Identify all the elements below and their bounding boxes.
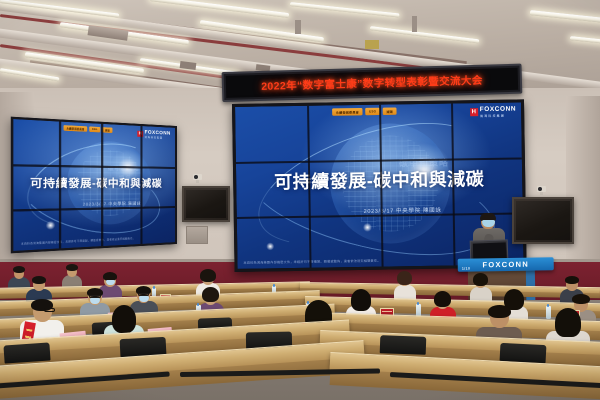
foxconn-logo: H FOXCONN 鴻海科技集團 xyxy=(137,130,170,139)
ceiling-hanger xyxy=(412,16,417,32)
glow-dot xyxy=(46,221,56,230)
seat-back xyxy=(380,335,427,355)
ceiling-light xyxy=(530,10,600,23)
led-banner-screen: 2022年“数字富士康”数字转型表彰暨交流大会 xyxy=(226,68,519,98)
slide-footer: 本資料為鴻海集團內部機密文件，未經許可不得複製、轉載或散佈，違者依法追究相關責任… xyxy=(21,236,135,246)
ceiling-light xyxy=(290,2,400,17)
ceiling-light xyxy=(150,0,290,18)
ceiling-hanger xyxy=(295,20,301,34)
slide-badges: 永續發展委員會 ESG 減碳 xyxy=(332,107,397,115)
attendee-hair xyxy=(200,269,216,282)
slide-meta: 2023/3/17 中央學院 陳國詠 xyxy=(364,206,442,215)
monitor-screen xyxy=(186,190,226,218)
wall-speaker xyxy=(186,226,208,244)
attendee-hair xyxy=(434,291,451,307)
slide-badge: 永續發展委員會 xyxy=(63,125,87,132)
slide-badge: 減碳 xyxy=(383,107,397,115)
face-mask-icon xyxy=(482,220,495,227)
left-video-wall: 永續發展委員會 ESG 減碳 H FOXCONN 鴻海科技集團 碳中和策略 提升… xyxy=(11,117,177,254)
slide-badge: 永續發展委員會 xyxy=(332,108,363,116)
foxconn-logo: H FOXCONN 鴻海科技集團 xyxy=(470,107,517,118)
conference-hall-photo: 2022年“数字富士康”数字转型表彰暨交流大会 永續發展委員會 ESG 減碳 H… xyxy=(0,0,600,400)
slide-badge: 減碳 xyxy=(102,127,112,133)
monitor-screen xyxy=(516,201,570,240)
podium-brand-label: FOXCONN xyxy=(482,260,529,270)
slide-badges: 永續發展委員會 ESG 減碳 xyxy=(63,125,112,133)
foxconn-h-mark: H xyxy=(137,131,143,137)
conference-camera-icon xyxy=(537,186,546,192)
attendee-hair xyxy=(202,287,219,302)
attendee-hair xyxy=(572,294,590,304)
foxconn-h-mark: H xyxy=(470,108,478,116)
left-slide: 永續發展委員會 ESG 減碳 H FOXCONN 鴻海科技集團 碳中和策略 提升… xyxy=(13,119,175,251)
foxconn-wordmark: FOXCONN xyxy=(480,107,516,114)
attendee-hair xyxy=(13,266,25,273)
slide-title: 可持續發展-碳中和與減碳 xyxy=(30,173,162,190)
podium-fascia: FOXCONN xyxy=(458,257,554,272)
led-banner-text: 2022年“数字富士康”数字转型表彰暨交流大会 xyxy=(261,72,483,93)
ceiling-light xyxy=(370,26,480,43)
glasses-icon xyxy=(44,308,55,312)
attendee-hair xyxy=(32,276,46,284)
side-monitor-left xyxy=(182,186,230,222)
slide-footer: 本資料為鴻海集團內部機密文件，未經許可不得複製、轉載或散佈，違者依法追究相關責任… xyxy=(243,258,380,265)
ceiling-light xyxy=(570,36,600,45)
attendee-hair xyxy=(66,264,78,271)
attendee-hair xyxy=(397,271,412,285)
attendee-hair xyxy=(112,305,136,333)
foxconn-subtitle: 鴻海科技集團 xyxy=(144,136,170,139)
laptop-screen xyxy=(472,242,506,259)
slide-ghost-text: 碳中和策略 xyxy=(108,164,140,172)
ceiling-duct xyxy=(87,25,128,40)
glow-dot xyxy=(266,242,274,250)
attendee-hair xyxy=(565,276,579,284)
podium-tag-label: 1/10 xyxy=(462,267,471,271)
slide-badge: ESG xyxy=(366,108,381,116)
slide-title: 可持續發展-碳中和與減碳 xyxy=(274,165,484,194)
seat-back xyxy=(3,342,50,363)
attendee-hair xyxy=(473,273,488,286)
side-monitor-right xyxy=(512,197,574,244)
attendee-hair xyxy=(351,289,371,311)
foxconn-subtitle: 鴻海科技集團 xyxy=(480,114,516,118)
seat-back xyxy=(500,343,547,363)
slide-badge: ESG xyxy=(89,126,100,132)
wall-column-right xyxy=(566,96,600,286)
ceiling-marker xyxy=(365,40,379,49)
attendee-hair xyxy=(555,308,581,337)
attendee-hair xyxy=(488,305,511,318)
conference-camera-icon xyxy=(193,174,202,180)
